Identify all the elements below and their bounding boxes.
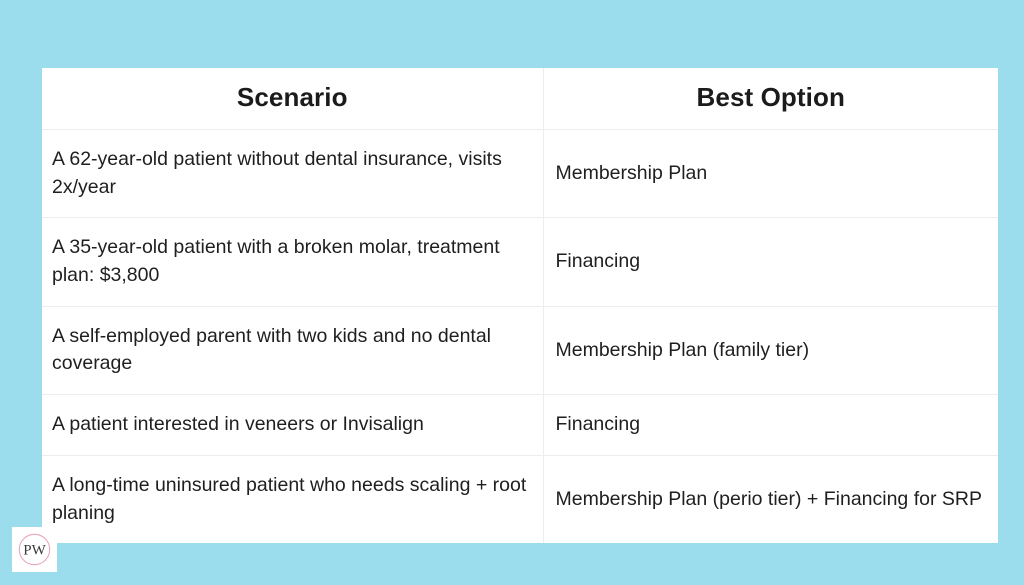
table-row: A 35-year-old patient with a broken mola…: [42, 218, 998, 306]
cell-scenario: A patient interested in veneers or Invis…: [42, 395, 543, 456]
cell-scenario: A self-employed parent with two kids and…: [42, 306, 543, 394]
column-header-best-option: Best Option: [543, 68, 998, 130]
table-body: A 62-year-old patient without dental ins…: [42, 130, 998, 544]
table-row: A long-time uninsured patient who needs …: [42, 455, 998, 543]
table-row: A patient interested in veneers or Invis…: [42, 395, 998, 456]
cell-best-option: Financing: [543, 395, 998, 456]
cell-best-option: Membership Plan (family tier): [543, 306, 998, 394]
cell-best-option: Financing: [543, 218, 998, 306]
scenario-best-option-table: Scenario Best Option A 62-year-old patie…: [42, 68, 998, 543]
pw-monogram-icon: PW · · · · · · · · · ·: [14, 529, 55, 570]
brand-logo: PW · · · · · · · · · ·: [12, 527, 57, 572]
cell-best-option: Membership Plan (perio tier) + Financing…: [543, 455, 998, 543]
table-row: A 62-year-old patient without dental ins…: [42, 130, 998, 218]
cell-scenario: A 62-year-old patient without dental ins…: [42, 130, 543, 218]
cell-scenario: A long-time uninsured patient who needs …: [42, 455, 543, 543]
cell-scenario: A 35-year-old patient with a broken mola…: [42, 218, 543, 306]
slide-canvas: Scenario Best Option A 62-year-old patie…: [0, 0, 1024, 585]
table-header: Scenario Best Option: [42, 68, 998, 130]
column-header-scenario: Scenario: [42, 68, 543, 130]
table-row: A self-employed parent with two kids and…: [42, 306, 998, 394]
table-header-row: Scenario Best Option: [42, 68, 998, 130]
cell-best-option: Membership Plan: [543, 130, 998, 218]
comparison-table-container: Scenario Best Option A 62-year-old patie…: [42, 68, 998, 543]
